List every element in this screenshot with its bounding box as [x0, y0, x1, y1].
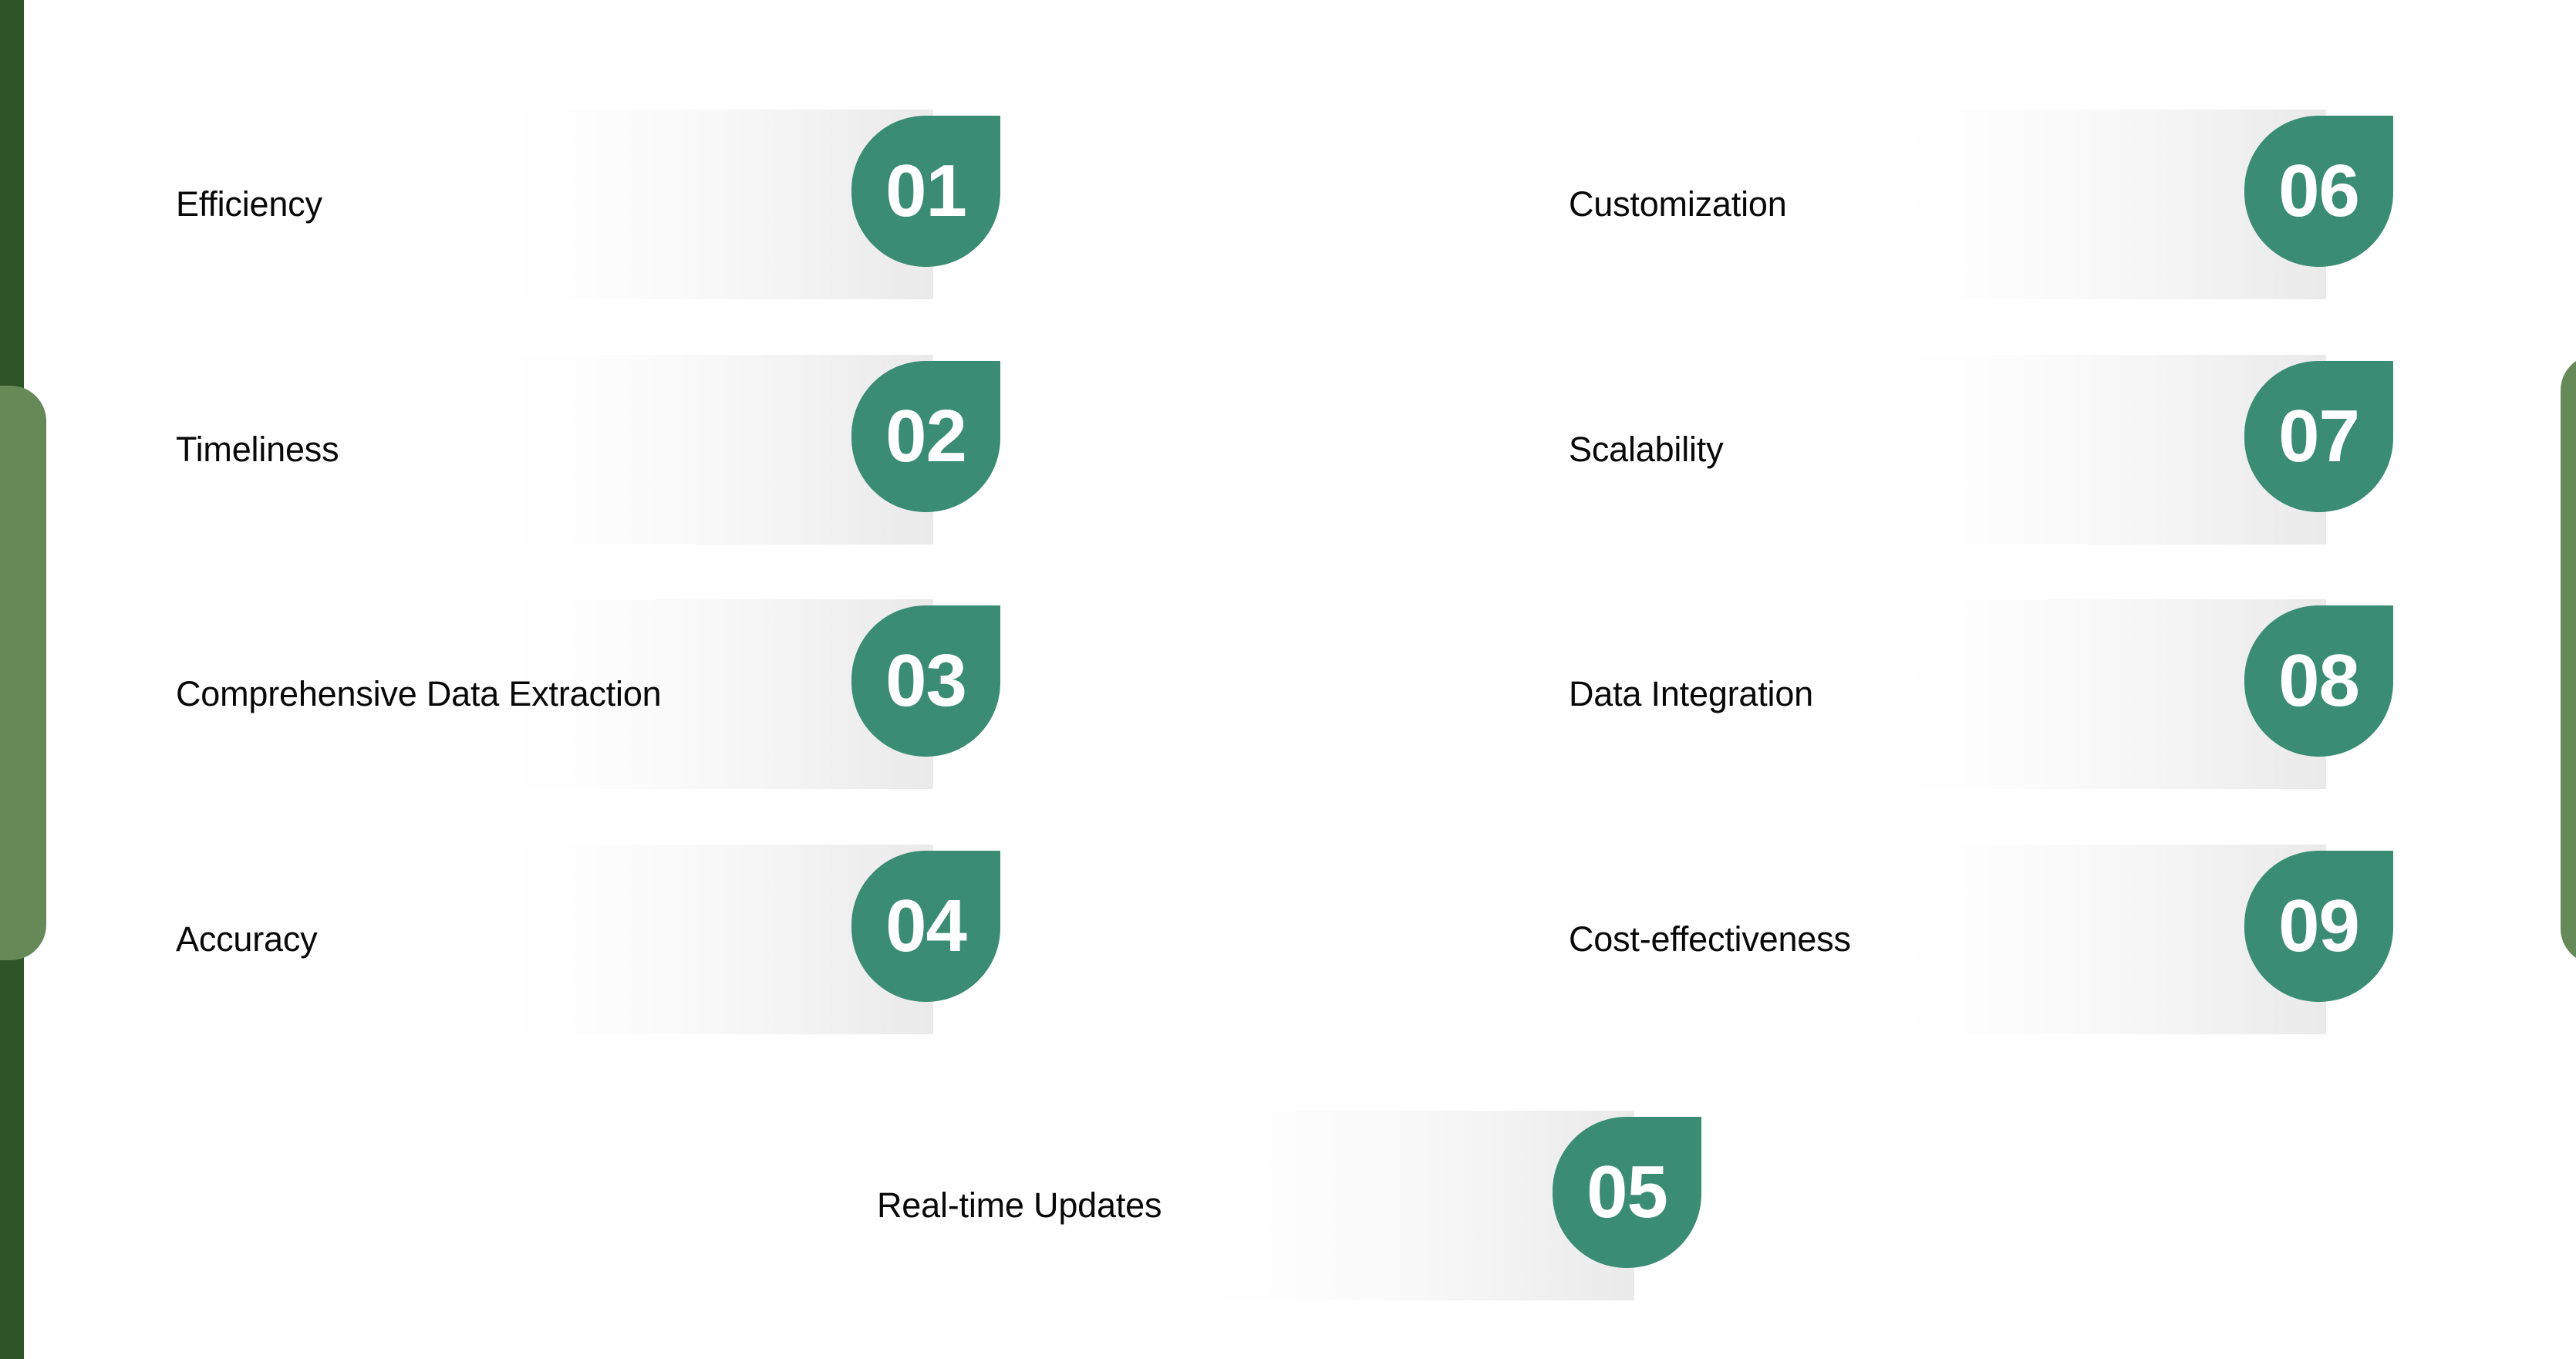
list-item-label: Scalability: [1569, 355, 1901, 545]
list-item-label: Efficiency: [176, 110, 508, 299]
list-item-label: Comprehensive Data Extraction: [176, 599, 508, 789]
list-item-label: Customization: [1569, 110, 1901, 299]
item-number-badge: 09: [2244, 851, 2393, 1002]
list-item-label: Real-time Updates: [877, 1111, 1209, 1300]
item-number-badge: 03: [851, 605, 1000, 757]
item-number-badge: 08: [2244, 605, 2393, 757]
list-item-label: Accuracy: [176, 845, 508, 1034]
item-number-badge: 06: [2244, 116, 2393, 267]
left-edge-green-panel: [0, 386, 46, 960]
list-item-label: Timeliness: [176, 355, 508, 545]
item-number-badge: 04: [851, 851, 1000, 1002]
item-number-badge: 02: [851, 361, 1000, 512]
slide-canvas: Efficiency 01 Timeliness 02 Comprehensiv…: [0, 0, 2576, 1359]
item-number-badge: 05: [1553, 1117, 1701, 1268]
right-edge-green-panel: [2561, 355, 2576, 964]
item-number-badge: 01: [851, 116, 1000, 267]
list-item-label: Cost-effectiveness: [1569, 845, 1901, 1034]
item-number-badge: 07: [2244, 361, 2393, 512]
list-item-label: Data Integration: [1569, 599, 1901, 789]
